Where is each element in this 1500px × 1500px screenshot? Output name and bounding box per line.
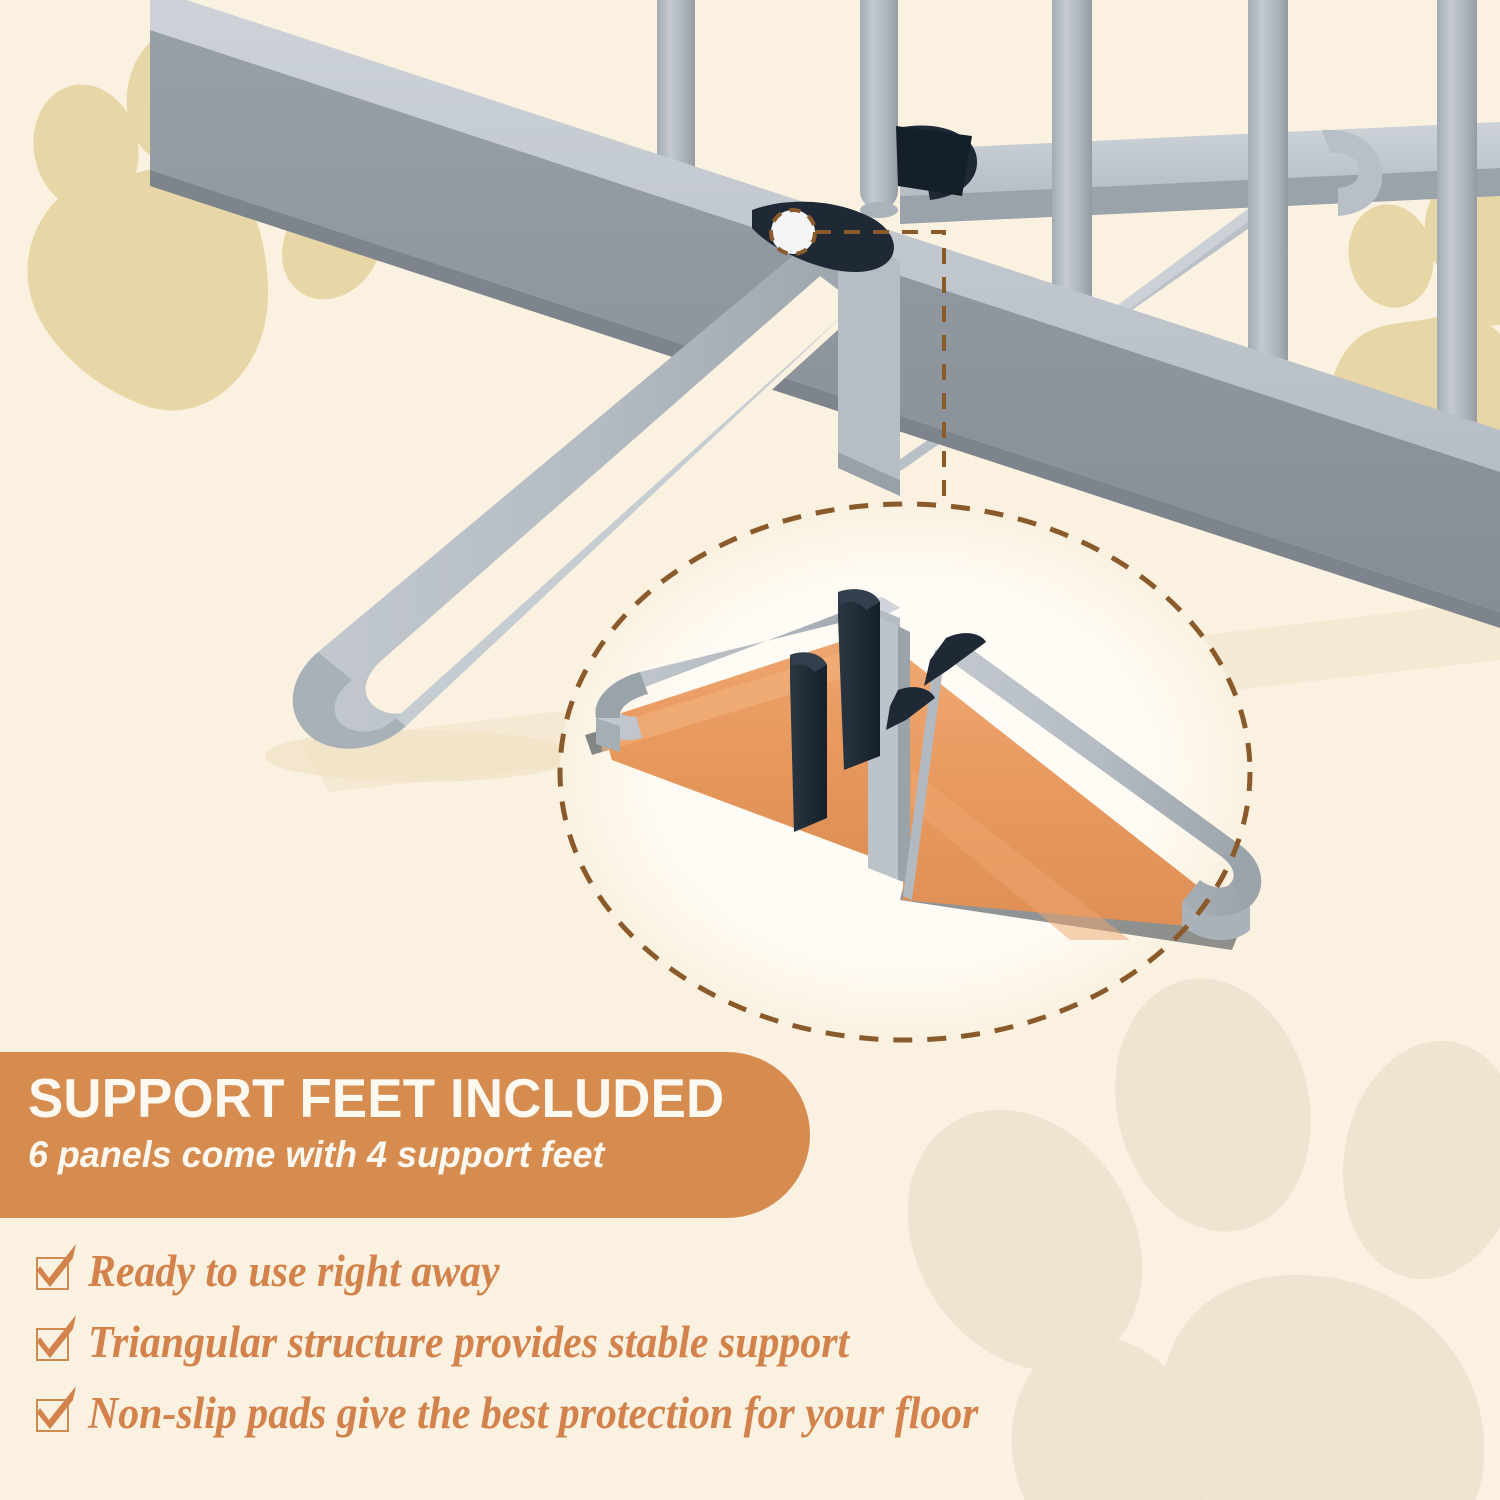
- feature-item-triangular-structure: Triangular structure provides stable sup…: [34, 1307, 1454, 1378]
- non-slip-pad: [790, 652, 827, 832]
- vertical-bar: [860, 0, 898, 218]
- feature-item-non-slip-pads: Non-slip pads give the best protection f…: [34, 1378, 1454, 1449]
- non-slip-pad: [838, 589, 880, 770]
- banner-title: SUPPORT FEET INCLUDED: [28, 1070, 779, 1126]
- checkbox-checked-icon: [34, 1323, 74, 1363]
- feature-label: Non-slip pads give the best protection f…: [88, 1391, 978, 1436]
- callout-marker-circle: [771, 210, 815, 254]
- feature-list: Ready to use right away Triangular struc…: [34, 1236, 1454, 1449]
- banner-subtitle: 6 panels come with 4 support feet: [28, 1135, 787, 1176]
- feature-item-ready-to-use: Ready to use right away: [34, 1236, 1454, 1307]
- checkbox-checked-icon: [34, 1394, 74, 1434]
- support-feet-banner: SUPPORT FEET INCLUDED 6 panels come with…: [0, 1052, 810, 1218]
- feature-label: Triangular structure provides stable sup…: [88, 1320, 849, 1365]
- feature-label: Ready to use right away: [88, 1249, 500, 1294]
- checkbox-checked-icon: [34, 1252, 74, 1292]
- product-feature-graphic: SUPPORT FEET INCLUDED 6 panels come with…: [0, 0, 1500, 1500]
